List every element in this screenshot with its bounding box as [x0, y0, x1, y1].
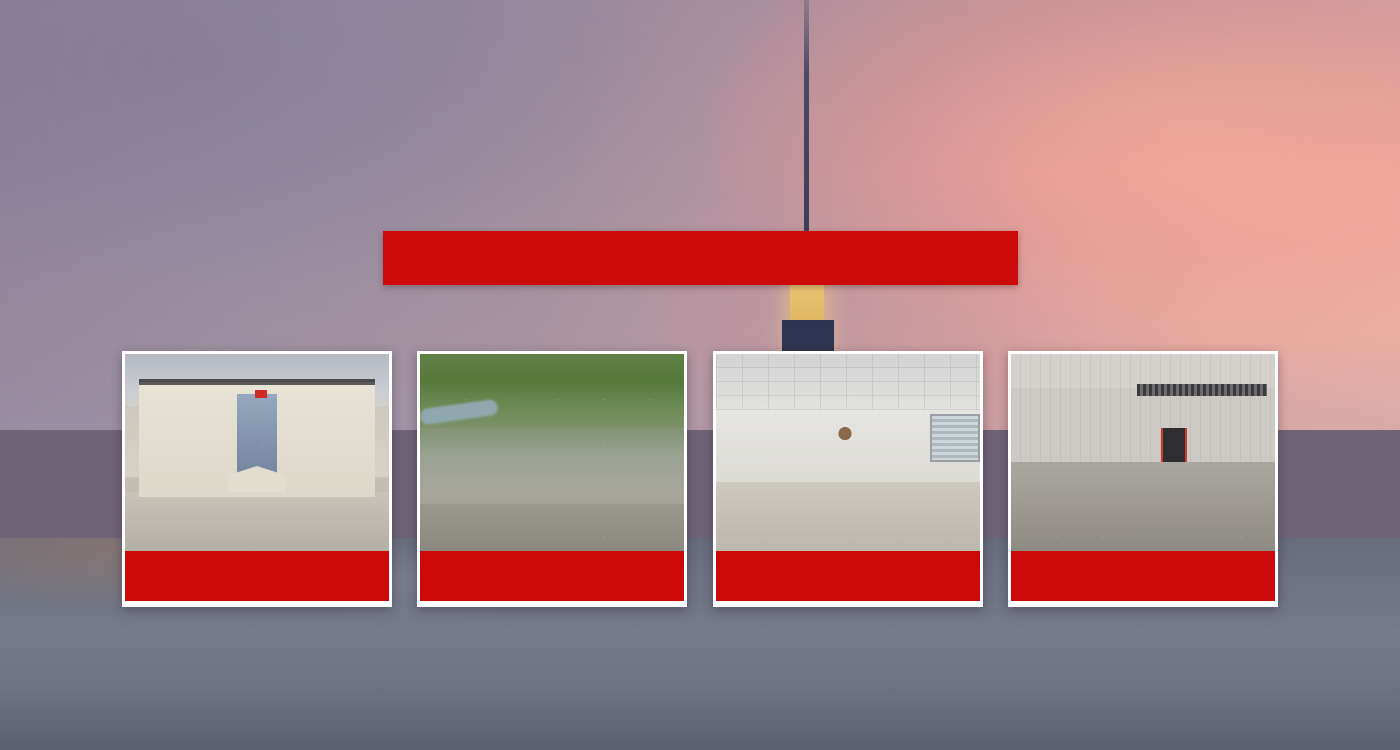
subtitle-banner — [383, 231, 1018, 285]
feature-card-system[interactable] — [713, 351, 983, 607]
feature-card-training[interactable] — [1008, 351, 1278, 607]
feature-card-service[interactable] — [122, 351, 392, 607]
card-caption-bar — [125, 551, 389, 601]
photo-office-interior — [716, 354, 980, 551]
photo-company-headquarters — [125, 354, 389, 551]
promo-banner — [0, 0, 1400, 750]
card-caption-bar — [420, 551, 684, 601]
photo-factory-workers — [1011, 354, 1275, 551]
card-caption-bar — [1011, 551, 1275, 601]
tower-antenna — [804, 0, 809, 258]
feature-card-list — [122, 351, 1278, 607]
card-caption-bar — [716, 551, 980, 601]
photo-industrial-plant-aerial — [420, 354, 684, 551]
feature-card-value[interactable] — [417, 351, 687, 607]
